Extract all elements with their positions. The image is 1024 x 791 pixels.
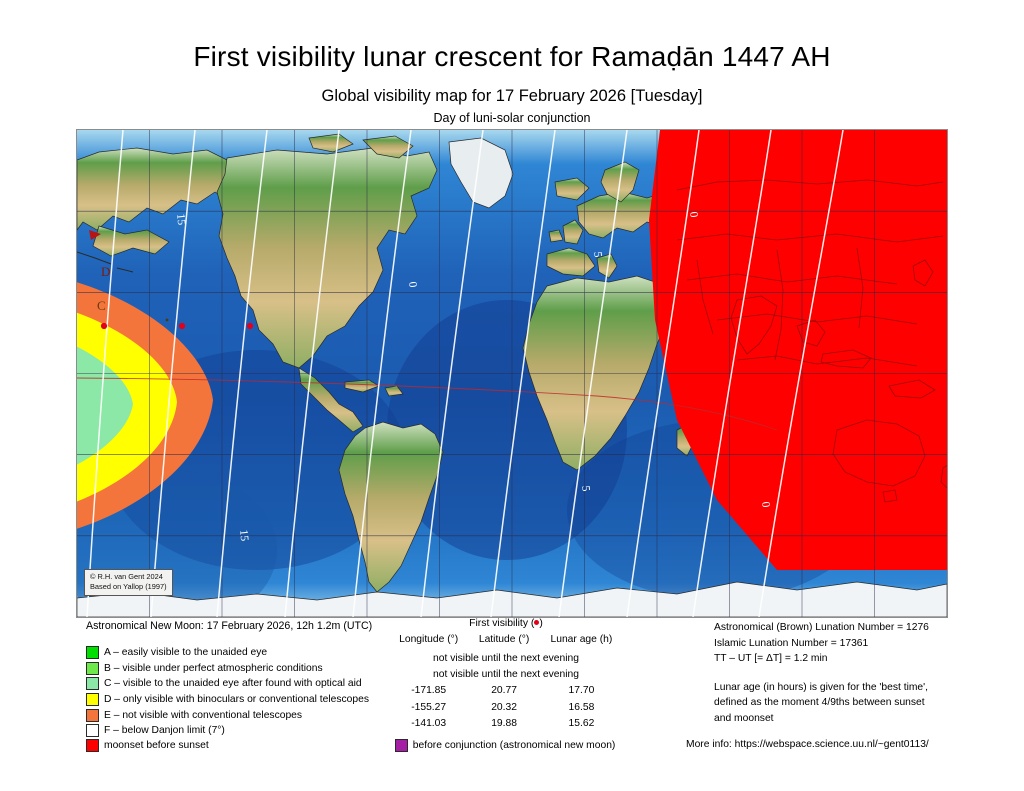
legend-item-f: F – below Danjon limit (7°) xyxy=(86,723,369,739)
fv-row-c-lunar-age: 17.70 xyxy=(539,683,624,699)
fv-header-latitude: Latitude (°) xyxy=(469,634,539,650)
map-copyright: © R.H. van Gent 2024 Based on Yallop (19… xyxy=(84,569,173,596)
best-time-line-3: and moonset xyxy=(714,711,964,727)
table-row: -141.03 19.88 15.62 xyxy=(388,715,624,731)
fv-row-a-note: not visible until the next evening xyxy=(388,650,624,666)
fv-row-d-lunar-age: 16.58 xyxy=(539,699,624,715)
subtitle: Global visibility map for 17 February 20… xyxy=(0,71,1024,105)
zone-label-C: C xyxy=(97,298,106,313)
legend-item-d: D – only visible with binoculars or conv… xyxy=(86,692,369,708)
legend-swatch-e xyxy=(86,709,99,722)
legend-label-moonset: moonset before sunset xyxy=(104,740,209,751)
legend-label-f: F – below Danjon limit (7°) xyxy=(104,725,225,736)
sub-subtitle: Day of luni-solar conjunction xyxy=(0,106,1024,126)
fv-marker-E xyxy=(247,323,253,329)
legend-item-a: A – easily visible to the unaided eye xyxy=(86,645,369,661)
fv-row-e-longitude: -141.03 xyxy=(388,715,469,731)
title-block: First visibility lunar crescent for Rama… xyxy=(0,0,1024,125)
legend-label-conjunction: before conjunction (astronomical new moo… xyxy=(413,740,616,751)
best-time-line-1: Lunar age (in hours) is given for the 'b… xyxy=(714,680,964,696)
legend-item-b: B – visible under perfect atmospheric co… xyxy=(86,661,369,677)
legend-swatch-f xyxy=(86,724,99,737)
legend-swatch-moonset xyxy=(86,739,99,752)
best-time-line-2: defined as the moment 4/9ths between sun… xyxy=(714,695,964,711)
lunation-islamic: Islamic Lunation Number = 17361 xyxy=(714,636,964,652)
table-row: not visible until the next evening xyxy=(388,666,624,682)
fv-row-c-longitude: -171.85 xyxy=(388,683,469,699)
fv-marker-D xyxy=(179,323,185,329)
legend-swatch-c xyxy=(86,677,99,690)
visibility-map: D C xyxy=(76,129,948,618)
legend-swatch-b xyxy=(86,662,99,675)
lunation-brown: Astronomical (Brown) Lunation Number = 1… xyxy=(714,620,964,636)
legend-label-d: D – only visible with binoculars or conv… xyxy=(104,694,369,705)
world-map-svg: D C xyxy=(77,130,947,617)
fv-header-row: Longitude (°) Latitude (°) Lunar age (h) xyxy=(388,634,624,650)
extra-legend: moonset before sunset before conjunction… xyxy=(86,739,615,752)
legend-label-a: A – easily visible to the unaided eye xyxy=(104,647,267,658)
zone-label-D: D xyxy=(101,264,110,279)
legend-swatch-a xyxy=(86,646,99,659)
table-row: -155.27 20.32 16.58 xyxy=(388,699,624,715)
table-row: -171.85 20.77 17.70 xyxy=(388,683,624,699)
legend-label-b: B – visible under perfect atmospheric co… xyxy=(104,663,323,674)
first-visibility-table: Longitude (°) Latitude (°) Lunar age (h)… xyxy=(388,634,624,731)
fv-row-e-latitude: 19.88 xyxy=(469,715,539,731)
right-info-block: Astronomical (Brown) Lunation Number = 1… xyxy=(714,620,964,727)
svg-text:15: 15 xyxy=(174,213,187,226)
fv-title-text-end: ) xyxy=(539,618,542,629)
new-moon-label: Astronomical New Moon: 17 February 2026,… xyxy=(86,620,372,632)
legend-swatch-conjunction xyxy=(395,739,408,752)
fv-row-d-latitude: 20.32 xyxy=(469,699,539,715)
fv-marker-C xyxy=(101,323,107,329)
fv-header-lunar-age: Lunar age (h) xyxy=(539,634,624,650)
copyright-line-2: Based on Yallop (1997) xyxy=(90,582,167,592)
legend-swatch-d xyxy=(86,693,99,706)
first-visibility-title: First visibility () xyxy=(388,618,624,629)
svg-text:15: 15 xyxy=(237,529,250,542)
visibility-legend: A – easily visible to the unaided eye B … xyxy=(86,645,369,739)
table-row: not visible until the next evening xyxy=(388,650,624,666)
copyright-line-1: © R.H. van Gent 2024 xyxy=(90,572,167,582)
legend-item-c: C – visible to the unaided eye after fou… xyxy=(86,676,369,692)
delta-t: TT – UT [= ΔT] = 1.2 min xyxy=(714,651,964,667)
legend-label-e: E – not visible with conventional telesc… xyxy=(104,710,302,721)
fv-row-b-note: not visible until the next evening xyxy=(388,666,624,682)
more-info-link[interactable]: More info: https://webspace.science.uu.n… xyxy=(686,739,929,750)
page-title: First visibility lunar crescent for Rama… xyxy=(0,0,1024,71)
fv-row-d-longitude: -155.27 xyxy=(388,699,469,715)
fv-header-longitude: Longitude (°) xyxy=(388,634,469,650)
fv-row-e-lunar-age: 15.62 xyxy=(539,715,624,731)
first-visibility-block: First visibility () Longitude (°) Latitu… xyxy=(388,618,624,731)
legend-label-c: C – visible to the unaided eye after fou… xyxy=(104,678,362,689)
legend-item-e: E – not visible with conventional telesc… xyxy=(86,707,369,723)
fv-row-c-latitude: 20.77 xyxy=(469,683,539,699)
fv-title-text: First visibility ( xyxy=(469,618,534,629)
